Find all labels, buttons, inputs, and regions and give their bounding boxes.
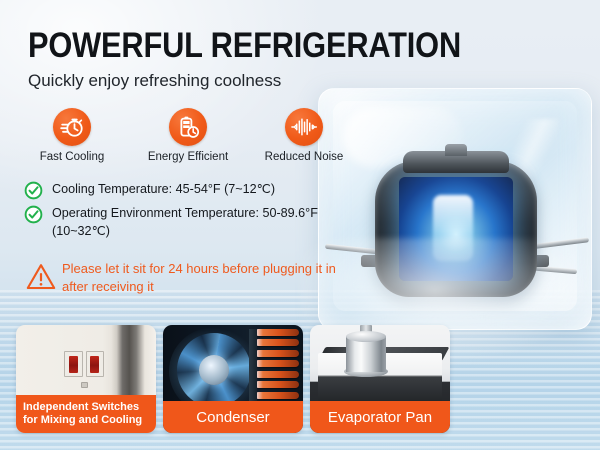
compressor-tab bbox=[445, 144, 467, 156]
panel-caption: Independent Switches for Mixing and Cool… bbox=[16, 395, 156, 433]
feature-label: Energy Efficient bbox=[128, 151, 248, 163]
coil bbox=[255, 371, 299, 378]
green-check-icon bbox=[24, 205, 43, 224]
page-title: POWERFUL REFRIGERATION bbox=[28, 27, 461, 65]
coil-frame bbox=[249, 329, 257, 409]
page-subtitle: Quickly enjoy refreshing coolness bbox=[28, 70, 281, 92]
coil bbox=[255, 392, 299, 399]
green-check-icon bbox=[24, 181, 43, 200]
coil bbox=[255, 339, 299, 346]
panel-independent-switches[interactable]: Independent Switches for Mixing and Cool… bbox=[16, 325, 156, 433]
spec-item: Operating Environment Temperature: 50-89… bbox=[24, 204, 334, 240]
panel-caption: Condenser bbox=[163, 401, 303, 433]
feature-reduced-noise: Reduced Noise bbox=[248, 108, 360, 163]
feature-icon-row: Fast Cooling Energy Efficient bbox=[24, 108, 354, 170]
feature-label: Fast Cooling bbox=[24, 151, 120, 163]
spec-item: Cooling Temperature: 45-54°F (7~12℃) bbox=[24, 180, 334, 198]
warning-notice: Please let it sit for 24 hours before pl… bbox=[26, 260, 362, 296]
coil bbox=[255, 360, 299, 367]
condenser-coils bbox=[255, 329, 299, 409]
rocker-switch bbox=[64, 351, 83, 377]
rocker-switch bbox=[86, 351, 105, 377]
stopwatch-speed-icon bbox=[53, 108, 91, 146]
spec-text: Operating Environment Temperature: 50-89… bbox=[52, 206, 318, 238]
switch-indicator bbox=[81, 382, 88, 388]
battery-clock-icon bbox=[169, 108, 207, 146]
warning-triangle-icon bbox=[26, 263, 56, 290]
feature-fast-cooling: Fast Cooling bbox=[24, 108, 120, 163]
sound-wave-icon bbox=[285, 108, 323, 146]
feature-panel-row: Independent Switches for Mixing and Cool… bbox=[0, 325, 600, 440]
feature-label: Reduced Noise bbox=[248, 151, 360, 163]
panel-evaporator-pan[interactable]: Evaporator Pan bbox=[310, 325, 450, 433]
rocker-switch-pair bbox=[64, 351, 104, 377]
coil bbox=[255, 350, 299, 357]
cylinder-top bbox=[346, 331, 386, 342]
spec-text: Cooling Temperature: 45-54°F (7~12℃) bbox=[52, 182, 275, 196]
evaporator-cylinder bbox=[346, 331, 386, 377]
panel-condenser[interactable]: Condenser bbox=[163, 325, 303, 433]
fan-hub bbox=[199, 355, 229, 385]
coil bbox=[255, 329, 299, 336]
coil bbox=[255, 381, 299, 388]
promo-banner: POWERFUL REFRIGERATION Quickly enjoy ref… bbox=[0, 0, 600, 450]
warning-text: Please let it sit for 24 hours before pl… bbox=[62, 261, 336, 294]
spec-list: Cooling Temperature: 45-54°F (7~12℃) Ope… bbox=[24, 180, 334, 246]
feature-energy-efficient: Energy Efficient bbox=[128, 108, 248, 163]
panel-caption: Evaporator Pan bbox=[310, 401, 450, 433]
